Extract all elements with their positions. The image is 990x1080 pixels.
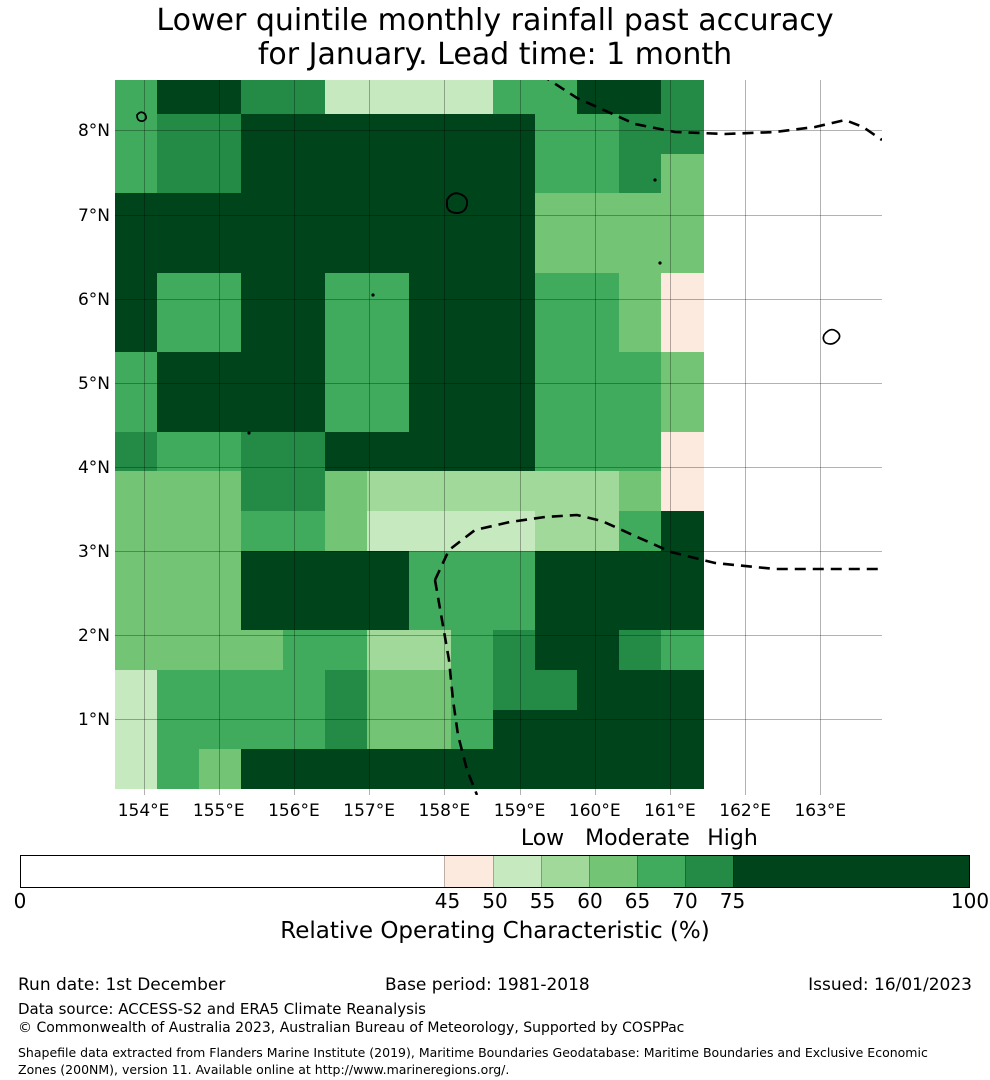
title-line-1: Lower quintile monthly rainfall past acc…	[0, 4, 990, 38]
heatmap-cell	[661, 670, 704, 710]
heatmap-cell	[577, 392, 620, 432]
heatmap-cell	[535, 312, 578, 352]
heatmap-cell	[619, 749, 662, 789]
heatmap-cell	[367, 749, 410, 789]
colorbar-segment	[541, 856, 589, 887]
heatmap-cell	[115, 312, 158, 352]
heatmap-cell	[451, 749, 494, 789]
heatmap-cell	[283, 154, 326, 194]
heatmap-cell	[493, 670, 536, 710]
heatmap-cell	[199, 193, 242, 233]
heatmap-cell	[409, 432, 452, 472]
heatmap-cell	[577, 432, 620, 472]
heatmap-cell	[535, 471, 578, 511]
heatmap-cell	[157, 471, 200, 511]
heatmap-cell	[199, 590, 242, 630]
heatmap-cell	[115, 551, 158, 591]
heatmap-cell	[619, 193, 662, 233]
heatmap-cell	[661, 80, 704, 115]
heatmap-cells	[115, 80, 882, 795]
colorbar-segment	[493, 856, 541, 887]
heatmap-cell	[367, 590, 410, 630]
heatmap-cell	[325, 80, 368, 115]
heatmap-cell	[241, 471, 284, 511]
heatmap-cell	[535, 154, 578, 194]
heatmap-cell	[115, 392, 158, 432]
heatmap-cell	[199, 312, 242, 352]
heatmap-cell	[619, 114, 662, 154]
colorbar-segment	[21, 856, 444, 887]
heatmap-cell	[241, 630, 284, 670]
heatmap-cell	[283, 670, 326, 710]
heatmap-cell	[325, 749, 368, 789]
heatmap-cell	[241, 154, 284, 194]
heatmap-cell	[325, 551, 368, 591]
heatmap-cell	[367, 670, 410, 710]
heatmap-cell	[535, 392, 578, 432]
run-date-text: Run date: 1st December	[18, 975, 225, 995]
heatmap-cell	[241, 114, 284, 154]
heatmap-cell	[283, 551, 326, 591]
heatmap-cell	[115, 590, 158, 630]
heatmap-cell	[199, 710, 242, 750]
heatmap-cell	[115, 670, 158, 710]
heatmap-cell	[577, 551, 620, 591]
heatmap-cell	[535, 233, 578, 273]
heatmap-cell	[409, 233, 452, 273]
heatmap-cell	[325, 590, 368, 630]
heatmap-cell	[493, 471, 536, 511]
latitude-tick-label: 1°N	[52, 710, 110, 730]
heatmap-cell	[535, 630, 578, 670]
heatmap-cell	[283, 114, 326, 154]
heatmap-cell	[241, 352, 284, 392]
heatmap-cell	[535, 551, 578, 591]
latitude-axis: 8°N7°N6°N5°N4°N3°N2°N1°N	[44, 80, 110, 795]
heatmap-cell	[157, 670, 200, 710]
heatmap-cell	[535, 511, 578, 551]
heatmap-cell	[115, 630, 158, 670]
latitude-tick-label: 6°N	[52, 290, 110, 310]
heatmap-cell	[367, 352, 410, 392]
latitude-tick-label: 3°N	[52, 542, 110, 562]
heatmap-cell	[619, 312, 662, 352]
heatmap-cell	[409, 511, 452, 551]
shapefile-credit-text: Shapefile data extracted from Flanders M…	[18, 1044, 968, 1078]
heatmap-cell	[115, 471, 158, 511]
colorbar-tick-label: 0	[0, 889, 60, 913]
heatmap-cell	[367, 154, 410, 194]
heatmap-cell	[367, 630, 410, 670]
heatmap-cell	[199, 511, 242, 551]
heatmap-cell	[241, 432, 284, 472]
heatmap-cell	[619, 630, 662, 670]
heatmap-cell	[493, 273, 536, 313]
heatmap-cell	[325, 630, 368, 670]
heatmap-cell	[577, 471, 620, 511]
heatmap-cell	[325, 392, 368, 432]
heatmap-cell	[409, 193, 452, 233]
heatmap-cell	[451, 352, 494, 392]
heatmap-cell	[367, 80, 410, 115]
heatmap-map	[115, 80, 882, 795]
heatmap-cell	[409, 710, 452, 750]
heatmap-cell	[409, 80, 452, 115]
colorbar-segment	[637, 856, 685, 887]
data-source-text: Data source: ACCESS-S2 and ERA5 Climate …	[18, 1000, 426, 1018]
heatmap-cell	[577, 511, 620, 551]
latitude-tick-label: 4°N	[52, 458, 110, 478]
heatmap-cell	[493, 312, 536, 352]
heatmap-cell	[451, 432, 494, 472]
colorbar-segment	[589, 856, 637, 887]
heatmap-cell	[451, 590, 494, 630]
heatmap-cell	[241, 749, 284, 789]
heatmap-cell	[661, 749, 704, 789]
heatmap-cell	[661, 154, 704, 194]
heatmap-cell	[325, 710, 368, 750]
heatmap-cell	[661, 471, 704, 511]
heatmap-cell	[157, 392, 200, 432]
colorbar-title: Relative Operating Characteristic (%)	[0, 918, 990, 944]
heatmap-cell	[199, 670, 242, 710]
heatmap-cell	[619, 590, 662, 630]
heatmap-cell	[619, 432, 662, 472]
heatmap-cell	[661, 193, 704, 233]
heatmap-cell	[493, 551, 536, 591]
heatmap-cell	[367, 551, 410, 591]
heatmap-cell	[241, 590, 284, 630]
heatmap-cell	[451, 710, 494, 750]
heatmap-cell	[451, 114, 494, 154]
heatmap-cell	[577, 80, 620, 115]
heatmap-cell	[241, 312, 284, 352]
heatmap-cell	[199, 352, 242, 392]
heatmap-cell	[535, 193, 578, 233]
heatmap-cell	[409, 312, 452, 352]
heatmap-cell	[577, 590, 620, 630]
heatmap-cell	[367, 114, 410, 154]
heatmap-cell	[325, 511, 368, 551]
heatmap-cell	[115, 432, 158, 472]
heatmap-cell	[325, 193, 368, 233]
heatmap-cell	[409, 670, 452, 710]
heatmap-cell	[451, 392, 494, 432]
heatmap-cell	[409, 273, 452, 313]
heatmap-cell	[283, 233, 326, 273]
heatmap-cell	[115, 749, 158, 789]
heatmap-cell	[661, 233, 704, 273]
heatmap-cell	[619, 352, 662, 392]
heatmap-cell	[577, 193, 620, 233]
colorbar-category-label: High	[633, 826, 833, 851]
heatmap-cell	[199, 471, 242, 511]
heatmap-cell	[661, 630, 704, 670]
heatmap-cell	[283, 511, 326, 551]
heatmap-cell	[115, 710, 158, 750]
heatmap-cell	[283, 749, 326, 789]
heatmap-cell	[577, 630, 620, 670]
heatmap-cell	[157, 352, 200, 392]
heatmap-cell	[283, 590, 326, 630]
heatmap-cell	[157, 511, 200, 551]
heatmap-cell	[241, 392, 284, 432]
colorbar-segment	[444, 856, 492, 887]
heatmap-cell	[115, 511, 158, 551]
heatmap-cell	[409, 749, 452, 789]
heatmap-cell	[535, 670, 578, 710]
heatmap-cell	[199, 273, 242, 313]
heatmap-cell	[409, 114, 452, 154]
heatmap-cell	[325, 114, 368, 154]
colorbar-tick-label: 75	[693, 889, 773, 913]
issued-date-text: Issued: 16/01/2023	[808, 975, 972, 995]
heatmap-cell	[409, 551, 452, 591]
heatmap-cell	[367, 312, 410, 352]
heatmap-cell	[451, 154, 494, 194]
latitude-tick-label: 8°N	[52, 121, 110, 141]
heatmap-cell	[661, 352, 704, 392]
heatmap-cell	[157, 273, 200, 313]
latitude-tick-label: 2°N	[52, 626, 110, 646]
heatmap-cell	[115, 154, 158, 194]
heatmap-cell	[199, 233, 242, 273]
colorbar-ticks: 045505560657075100	[20, 889, 970, 913]
heatmap-cell	[619, 551, 662, 591]
heatmap-cell	[451, 630, 494, 670]
heatmap-cell	[493, 154, 536, 194]
heatmap-cell	[619, 80, 662, 115]
heatmap-cell	[493, 114, 536, 154]
heatmap-cell	[157, 233, 200, 273]
heatmap-cell	[577, 312, 620, 352]
heatmap-cell	[619, 273, 662, 313]
heatmap-cell	[115, 233, 158, 273]
heatmap-cell	[157, 590, 200, 630]
heatmap-cell	[409, 392, 452, 432]
heatmap-cell	[577, 114, 620, 154]
heatmap-cell	[283, 432, 326, 472]
heatmap-cell	[619, 710, 662, 750]
heatmap-cell	[199, 749, 242, 789]
heatmap-cell	[409, 630, 452, 670]
heatmap-cell	[325, 273, 368, 313]
heatmap-cell	[619, 154, 662, 194]
heatmap-cell	[283, 392, 326, 432]
heatmap-cell	[157, 551, 200, 591]
heatmap-cell	[367, 193, 410, 233]
heatmap-cell	[409, 471, 452, 511]
heatmap-cell	[367, 273, 410, 313]
heatmap-cell	[535, 590, 578, 630]
heatmap-cell	[661, 511, 704, 551]
heatmap-cell	[325, 352, 368, 392]
heatmap-cell	[157, 154, 200, 194]
heatmap-cell	[661, 273, 704, 313]
heatmap-cell	[157, 80, 200, 115]
heatmap-cell	[367, 432, 410, 472]
heatmap-cell	[241, 710, 284, 750]
heatmap-cell	[661, 432, 704, 472]
heatmap-cell	[493, 193, 536, 233]
heatmap-cell	[493, 749, 536, 789]
heatmap-cell	[451, 670, 494, 710]
heatmap-cell	[157, 193, 200, 233]
heatmap-cell	[199, 154, 242, 194]
heatmap-cell	[367, 471, 410, 511]
heatmap-cell	[115, 352, 158, 392]
heatmap-cell	[325, 471, 368, 511]
base-period-text: Base period: 1981-2018	[385, 975, 590, 995]
heatmap-cell	[199, 630, 242, 670]
heatmap-cell	[283, 352, 326, 392]
heatmap-cell	[535, 432, 578, 472]
heatmap-cell	[115, 114, 158, 154]
heatmap-cell	[241, 670, 284, 710]
heatmap-cell	[619, 670, 662, 710]
copyright-text: © Commonwealth of Australia 2023, Austra…	[18, 1020, 684, 1036]
heatmap-cell	[493, 590, 536, 630]
heatmap-cell	[661, 590, 704, 630]
heatmap-cell	[493, 710, 536, 750]
heatmap-cell	[451, 80, 494, 115]
heatmap-cell	[577, 670, 620, 710]
heatmap-cell	[451, 273, 494, 313]
heatmap-cell	[535, 114, 578, 154]
heatmap-cell	[577, 710, 620, 750]
heatmap-cell	[241, 233, 284, 273]
heatmap-cell	[577, 233, 620, 273]
heatmap-cell	[451, 551, 494, 591]
heatmap-cell	[157, 114, 200, 154]
heatmap-cell	[535, 710, 578, 750]
heatmap-cell	[619, 392, 662, 432]
page-title: Lower quintile monthly rainfall past acc…	[0, 4, 990, 72]
heatmap-cell	[409, 590, 452, 630]
heatmap-cell	[619, 233, 662, 273]
heatmap-cell	[493, 80, 536, 115]
heatmap-cell	[577, 352, 620, 392]
heatmap-cell	[283, 193, 326, 233]
heatmap-cell	[325, 154, 368, 194]
heatmap-cell	[451, 471, 494, 511]
colorbar-tick-label: 100	[930, 889, 990, 913]
heatmap-cell	[283, 80, 326, 115]
heatmap-cell	[241, 193, 284, 233]
heatmap-cell	[493, 392, 536, 432]
heatmap-cell	[241, 511, 284, 551]
heatmap-cell	[661, 710, 704, 750]
heatmap-cell	[367, 392, 410, 432]
heatmap-cell	[409, 154, 452, 194]
colorbar	[20, 855, 970, 888]
heatmap-cell	[115, 80, 158, 115]
heatmap-cell	[199, 551, 242, 591]
heatmap-cell	[115, 273, 158, 313]
heatmap-cell	[535, 352, 578, 392]
heatmap-cell	[535, 80, 578, 115]
longitude-tick-label: 163°E	[775, 801, 865, 821]
heatmap-cell	[241, 551, 284, 591]
heatmap-cell	[577, 749, 620, 789]
heatmap-cell	[493, 432, 536, 472]
heatmap-cell	[493, 233, 536, 273]
heatmap-cell	[367, 511, 410, 551]
heatmap-cell	[157, 710, 200, 750]
heatmap-cell	[661, 392, 704, 432]
heatmap-cell	[619, 471, 662, 511]
heatmap-cell	[493, 511, 536, 551]
heatmap-cell	[157, 630, 200, 670]
title-line-2: for January. Lead time: 1 month	[0, 38, 990, 72]
heatmap-cell	[283, 471, 326, 511]
heatmap-cell	[367, 233, 410, 273]
heatmap-cell	[451, 511, 494, 551]
heatmap-cell	[199, 114, 242, 154]
heatmap-cell	[367, 710, 410, 750]
latitude-tick-label: 7°N	[52, 206, 110, 226]
heatmap-cell	[409, 352, 452, 392]
heatmap-cell	[661, 312, 704, 352]
heatmap-cell	[325, 312, 368, 352]
heatmap-cell	[325, 670, 368, 710]
heatmap-cell	[157, 749, 200, 789]
colorbar-segment	[733, 856, 969, 887]
heatmap-cell	[661, 114, 704, 154]
colorbar-segment	[685, 856, 733, 887]
heatmap-cell	[661, 551, 704, 591]
heatmap-cell	[619, 511, 662, 551]
heatmap-cell	[451, 193, 494, 233]
heatmap-cell	[157, 432, 200, 472]
heatmap-cell	[451, 312, 494, 352]
heatmap-cell	[577, 273, 620, 313]
heatmap-cell	[283, 273, 326, 313]
heatmap-cell	[325, 432, 368, 472]
heatmap-cell	[283, 710, 326, 750]
heatmap-cell	[577, 154, 620, 194]
heatmap-cell	[115, 193, 158, 233]
heatmap-cell	[493, 630, 536, 670]
heatmap-cell	[535, 273, 578, 313]
heatmap-cell	[493, 352, 536, 392]
heatmap-cell	[199, 80, 242, 115]
heatmap-cell	[283, 630, 326, 670]
heatmap-cell	[199, 432, 242, 472]
heatmap-cell	[325, 233, 368, 273]
heatmap-cell	[157, 312, 200, 352]
heatmap-cell	[451, 233, 494, 273]
heatmap-cell	[241, 80, 284, 115]
heatmap-cell	[241, 273, 284, 313]
heatmap-cell	[283, 312, 326, 352]
heatmap-cell	[535, 749, 578, 789]
latitude-tick-label: 5°N	[52, 374, 110, 394]
heatmap-cell	[199, 392, 242, 432]
